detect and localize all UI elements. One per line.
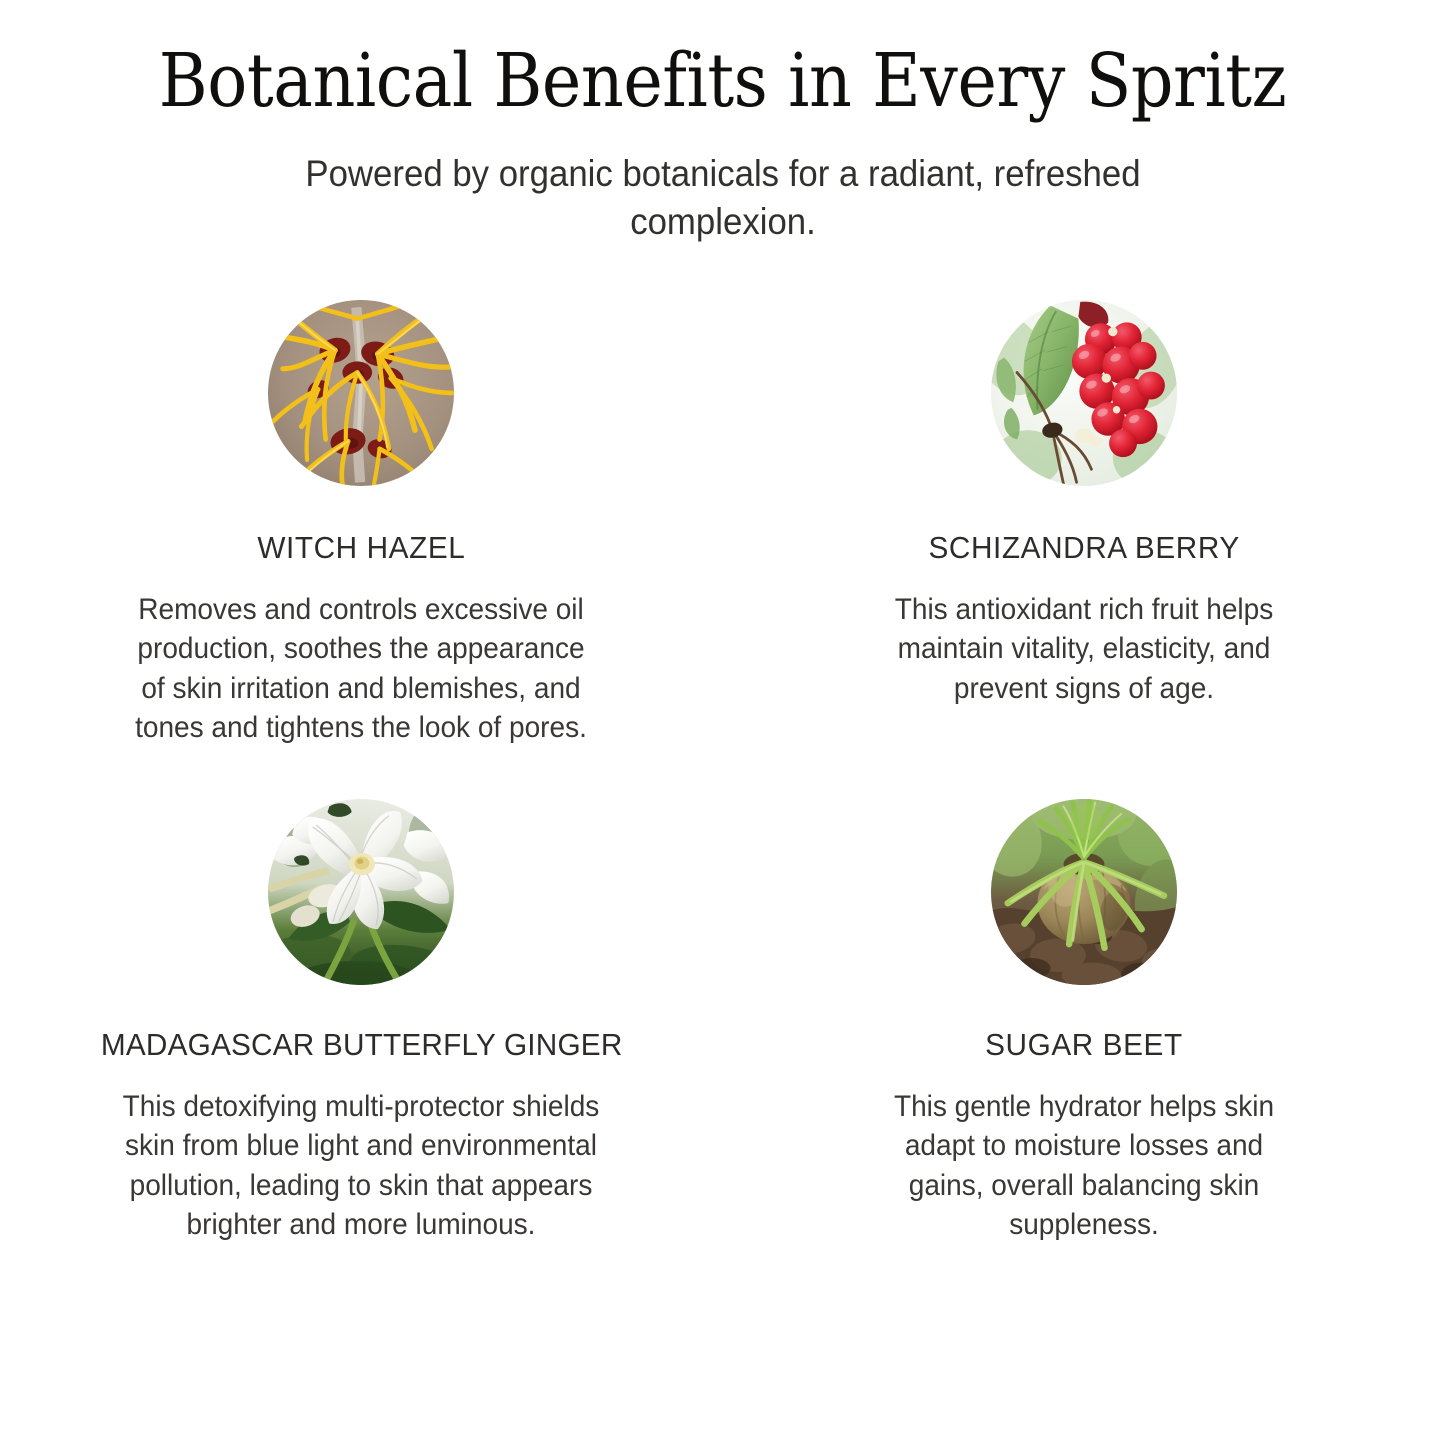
witch-hazel-photo bbox=[268, 300, 454, 486]
botanical-benefits-page: Botanical Benefits in Every Spritz Power… bbox=[0, 0, 1445, 1445]
ingredient-card-madagascar-butterfly-ginger: MADAGASCAR BUTTERFLY GINGER This detoxif… bbox=[0, 799, 723, 1244]
card-description: This gentle hydrator helps skin adapt to… bbox=[884, 1087, 1283, 1244]
page-header: Botanical Benefits in Every Spritz Power… bbox=[0, 0, 1445, 246]
ingredient-card-sugar-beet: SUGAR BEET This gentle hydrator helps sk… bbox=[723, 799, 1445, 1244]
card-title: WITCH HAZEL bbox=[257, 530, 465, 566]
card-description: Removes and controls excessive oil produ… bbox=[128, 590, 595, 747]
sugar-beet-photo bbox=[991, 799, 1177, 985]
card-title: SCHIZANDRA BERRY bbox=[928, 530, 1239, 566]
madagascar-butterfly-ginger-photo bbox=[268, 799, 454, 985]
schizandra-berry-photo bbox=[991, 300, 1177, 486]
ingredient-card-witch-hazel: WITCH HAZEL Removes and controls excessi… bbox=[0, 300, 723, 747]
card-description: This antioxidant rich fruit helps mainta… bbox=[884, 590, 1283, 708]
card-description: This detoxifying multi-protector shields… bbox=[114, 1087, 608, 1244]
ingredient-card-schizandra-berry: SCHIZANDRA BERRY This antioxidant rich f… bbox=[723, 300, 1445, 747]
ingredient-grid: WITCH HAZEL Removes and controls excessi… bbox=[0, 300, 1445, 1244]
card-title: SUGAR BEET bbox=[985, 1027, 1183, 1063]
page-subtitle: Powered by organic botanicals for a radi… bbox=[300, 150, 1146, 246]
page-title: Botanical Benefits in Every Spritz bbox=[72, 44, 1373, 118]
card-title: MADAGASCAR BUTTERFLY GINGER bbox=[100, 1027, 622, 1063]
